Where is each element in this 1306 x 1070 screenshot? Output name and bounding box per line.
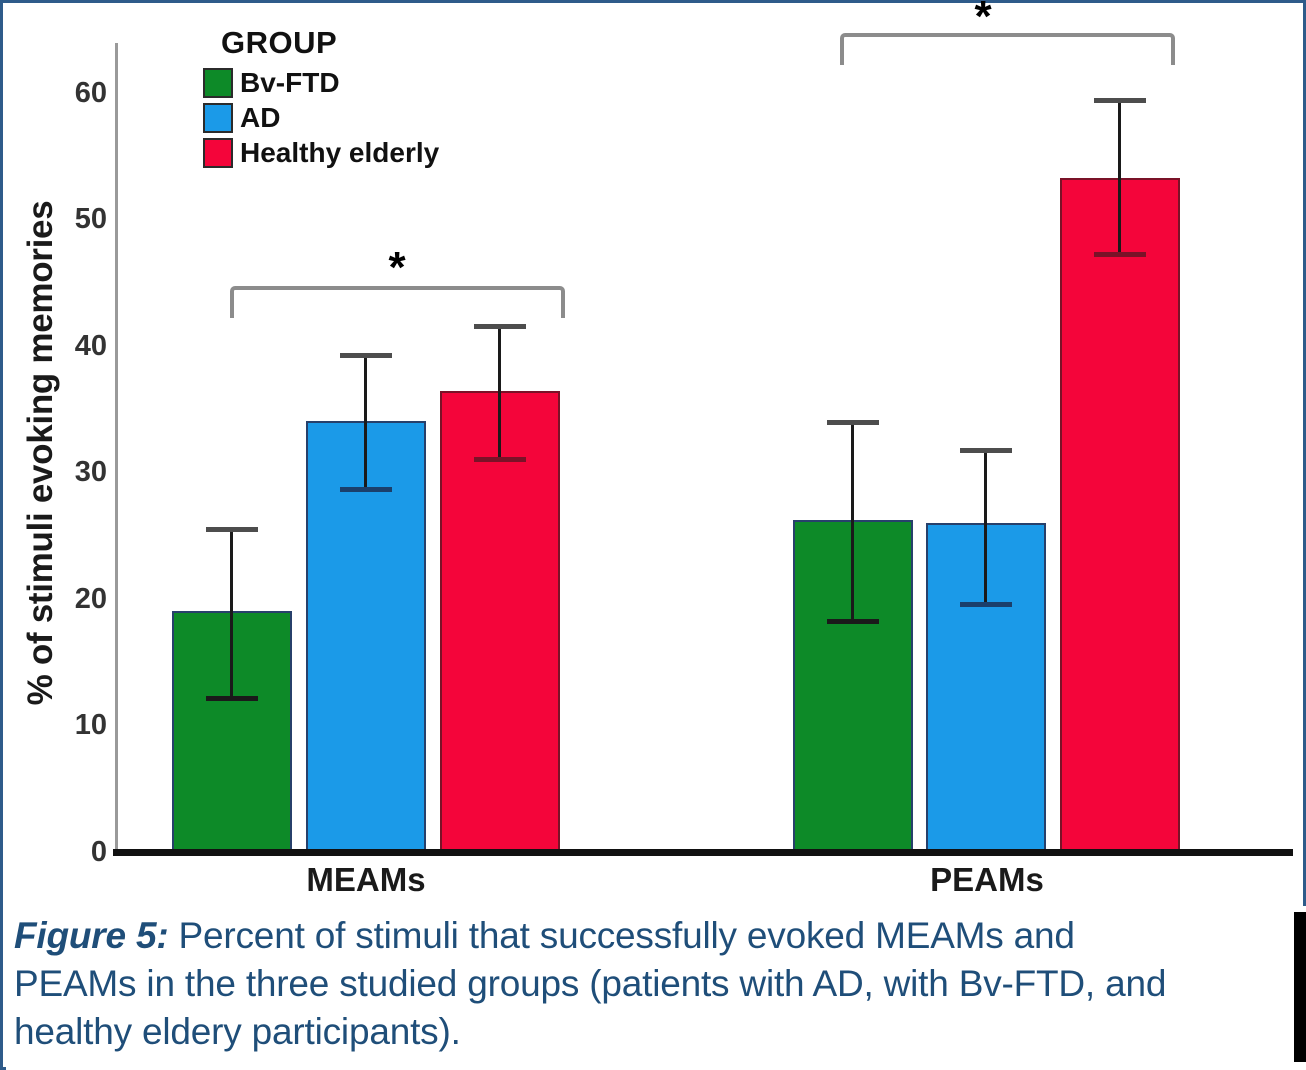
y-tick-40: 40 bbox=[45, 330, 107, 363]
errorbar-meams-bv-ftd bbox=[230, 529, 233, 698]
y-tick-0: 0 bbox=[45, 836, 107, 869]
legend-label-healthy-elderly: Healthy elderly bbox=[240, 137, 439, 169]
y-tick-60: 60 bbox=[45, 77, 107, 110]
caption-body: Percent of stimuli that successfully evo… bbox=[14, 915, 1166, 1052]
legend-item-healthy-elderly: Healthy elderly bbox=[203, 137, 533, 169]
errorbar-cap-top-meams-ad bbox=[340, 353, 392, 358]
legend-item-bv-ftd: Bv-FTD bbox=[203, 67, 533, 99]
bar-peams-healthy-elderly bbox=[1060, 178, 1180, 851]
y-tick-30: 30 bbox=[45, 456, 107, 489]
caption-right-bar bbox=[1294, 912, 1306, 1062]
y-tick-20: 20 bbox=[45, 583, 107, 616]
legend-item-ad: AD bbox=[203, 102, 533, 134]
errorbar-cap-bottom-meams-healthy-elderly bbox=[474, 457, 526, 462]
legend-swatch-red-icon bbox=[203, 138, 233, 168]
errorbar-peams-ad bbox=[984, 450, 987, 604]
errorbar-cap-bottom-meams-bv-ftd bbox=[206, 696, 258, 701]
significance-star-peams: * bbox=[933, 0, 1033, 39]
errorbar-cap-top-peams-bv-ftd bbox=[827, 420, 879, 425]
y-tick-50: 50 bbox=[45, 203, 107, 236]
x-axis-line bbox=[113, 849, 1293, 856]
x-tick-meams: MEAMs bbox=[266, 861, 466, 899]
errorbar-cap-bottom-peams-ad bbox=[960, 602, 1012, 607]
legend-label-bv-ftd: Bv-FTD bbox=[240, 67, 340, 99]
errorbar-cap-top-peams-ad bbox=[960, 448, 1012, 453]
errorbar-cap-bottom-peams-bv-ftd bbox=[827, 619, 879, 624]
errorbar-peams-bv-ftd bbox=[851, 422, 854, 621]
caption-text: Figure 5: Percent of stimuli that succes… bbox=[14, 912, 1194, 1056]
significance-star-meams: * bbox=[347, 246, 447, 290]
legend: GROUP Bv-FTD AD Healthy elderly bbox=[203, 25, 533, 172]
errorbar-peams-healthy-elderly bbox=[1118, 100, 1121, 255]
errorbar-cap-bottom-peams-healthy-elderly bbox=[1094, 252, 1146, 257]
errorbar-cap-top-meams-healthy-elderly bbox=[474, 324, 526, 329]
bar-chart: % of stimuli evoking memories 60 50 40 3… bbox=[3, 3, 1306, 903]
errorbar-cap-top-meams-bv-ftd bbox=[206, 527, 258, 532]
errorbar-cap-bottom-meams-ad bbox=[340, 487, 392, 492]
errorbar-meams-ad bbox=[364, 355, 367, 489]
errorbar-meams-healthy-elderly bbox=[498, 326, 501, 459]
figure-caption: Figure 5: Percent of stimuli that succes… bbox=[6, 906, 1306, 1070]
legend-title: GROUP bbox=[221, 25, 533, 61]
y-axis-line bbox=[115, 43, 118, 852]
legend-swatch-green-icon bbox=[203, 68, 233, 98]
caption-label: Figure 5: bbox=[14, 915, 168, 956]
legend-label-ad: AD bbox=[240, 102, 280, 134]
legend-swatch-blue-icon bbox=[203, 103, 233, 133]
y-tick-10: 10 bbox=[45, 709, 107, 742]
figure-frame: % of stimuli evoking memories 60 50 40 3… bbox=[0, 0, 1306, 1070]
errorbar-cap-top-peams-healthy-elderly bbox=[1094, 98, 1146, 103]
x-tick-peams: PEAMs bbox=[887, 861, 1087, 899]
